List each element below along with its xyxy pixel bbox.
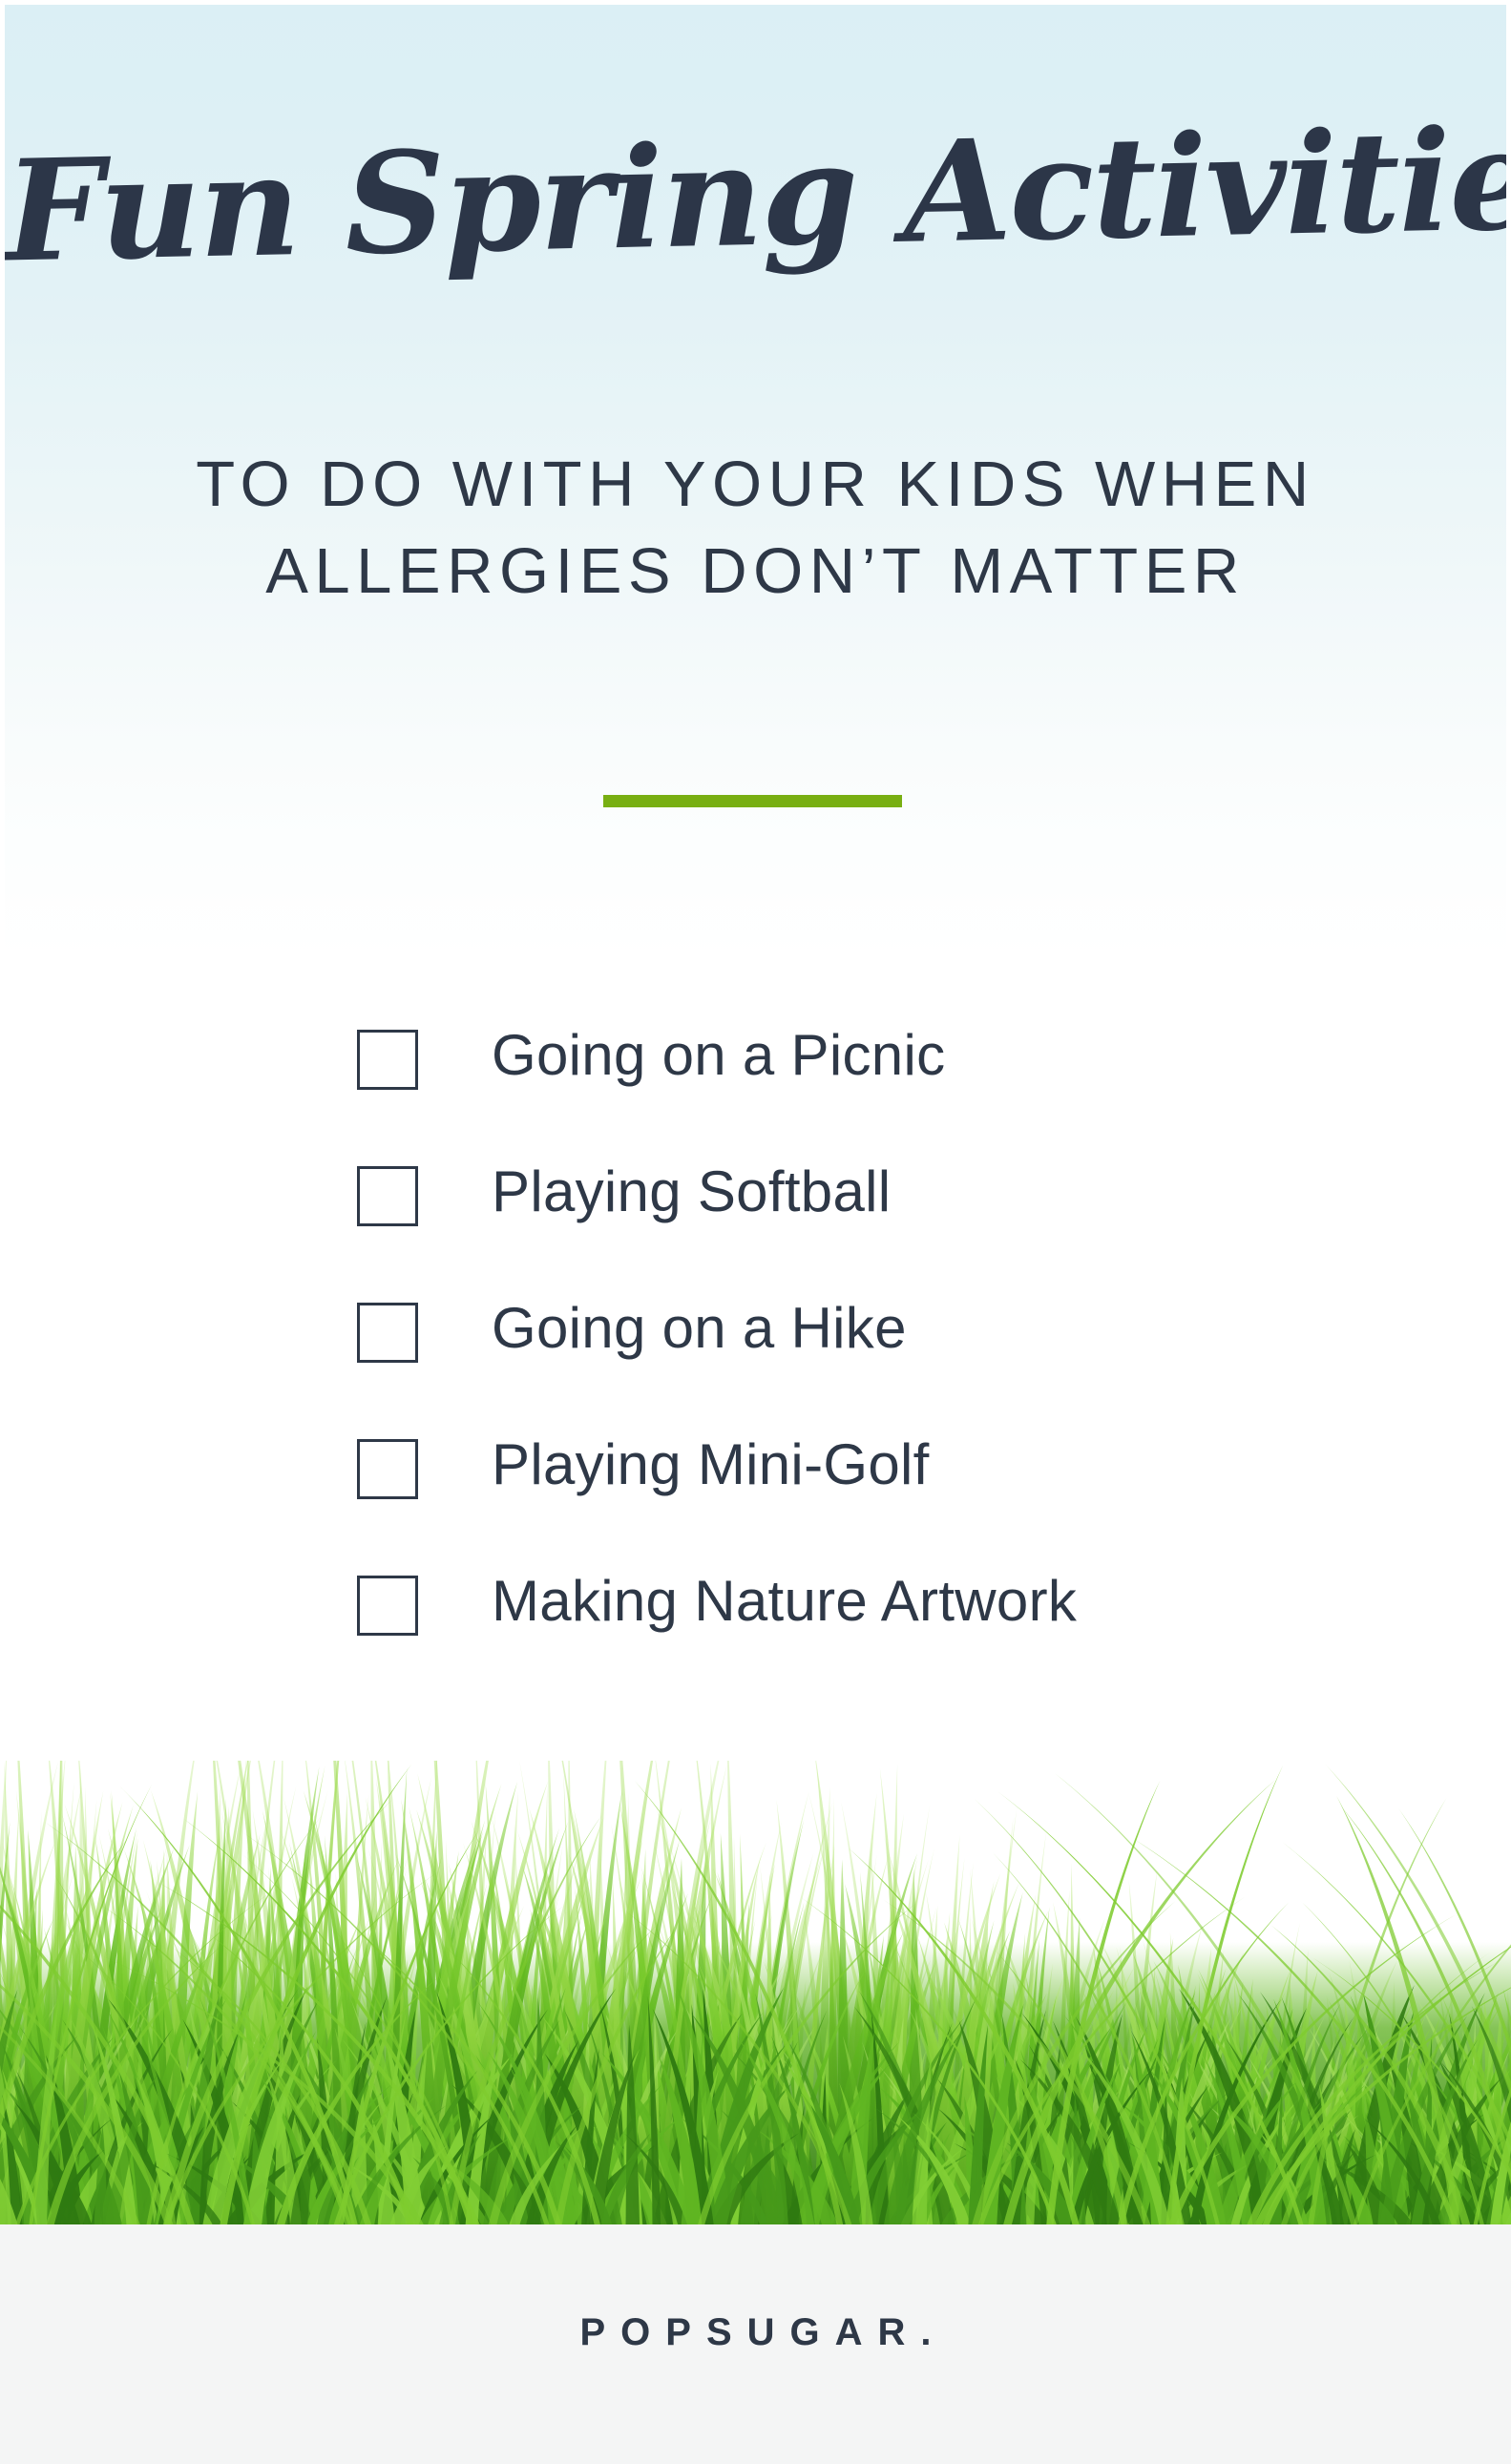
checklist-item[interactable]: Making Nature Artwork xyxy=(5,1567,1506,1703)
activities-checklist: Going on a Picnic Playing Softball Going… xyxy=(5,1021,1506,1703)
checkbox-icon[interactable] xyxy=(357,1166,418,1226)
checkbox-icon[interactable] xyxy=(357,1030,418,1090)
checklist-item-label: Going on a Hike xyxy=(492,1294,907,1363)
checklist-item-label: Going on a Picnic xyxy=(492,1021,945,1090)
popsugar-logo: POPSUGAR. xyxy=(0,2311,1511,2354)
grass-field-image xyxy=(0,1761,1511,2228)
page-title: Fun Spring Activities xyxy=(5,112,1506,282)
checklist-item[interactable]: Playing Mini-Golf xyxy=(5,1430,1506,1567)
checklist-item[interactable]: Playing Softball xyxy=(5,1158,1506,1294)
footer-band: POPSUGAR. xyxy=(0,2224,1511,2464)
grass-svg xyxy=(0,1761,1511,2228)
page-subtitle: TO DO WITH YOUR KIDS WHEN ALLERGIES DON’… xyxy=(5,450,1506,607)
checkbox-icon[interactable] xyxy=(357,1439,418,1499)
green-divider-rule xyxy=(603,795,902,807)
page-subtitle-line-1: TO DO WITH YOUR KIDS WHEN xyxy=(196,449,1315,520)
checkbox-icon[interactable] xyxy=(357,1576,418,1636)
checklist-item-label: Playing Softball xyxy=(492,1158,891,1226)
checklist-item-label: Playing Mini-Golf xyxy=(492,1430,930,1499)
page-subtitle-line-2: ALLERGIES DON’T MATTER xyxy=(5,537,1506,606)
poster-root: Fun Spring Activities TO DO WITH YOUR KI… xyxy=(0,0,1511,2464)
checklist-item[interactable]: Going on a Hike xyxy=(5,1294,1506,1430)
checklist-item[interactable]: Going on a Picnic xyxy=(5,1021,1506,1158)
checklist-item-label: Making Nature Artwork xyxy=(492,1567,1077,1636)
checkbox-icon[interactable] xyxy=(357,1303,418,1363)
